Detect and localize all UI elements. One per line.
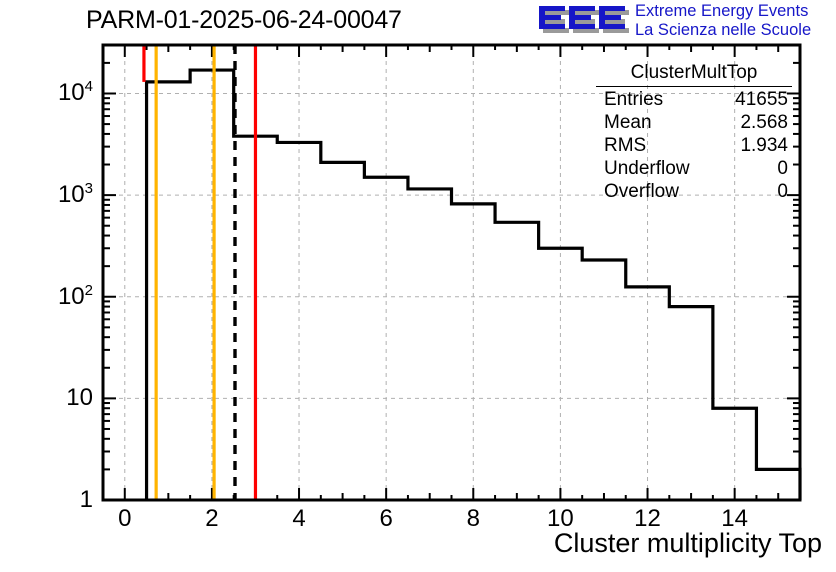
x-tick-label: 4 <box>292 505 305 533</box>
y-tick-label: 104 <box>58 79 93 107</box>
y-tick-label: 10 <box>66 384 93 412</box>
stats-row: RMS1.934 <box>596 134 792 157</box>
stats-row-value: 2.568 <box>740 111 788 134</box>
x-tick-label: 2 <box>205 505 218 533</box>
x-tick-label: 8 <box>467 505 480 533</box>
stats-row-key: RMS <box>604 134 646 157</box>
stats-box: ClusterMultTop Entries41655Mean2.568RMS1… <box>596 62 792 203</box>
stats-row: Entries41655 <box>596 88 792 111</box>
stats-row-value: 41655 <box>735 88 788 111</box>
root-canvas: PARM-01-2025-06-24-00047 <box>0 0 836 572</box>
y-tick-label: 1 <box>80 486 93 514</box>
stats-row-key: Overflow <box>604 180 679 203</box>
y-tick-label: 102 <box>58 283 93 311</box>
stats-row: Underflow0 <box>596 157 792 180</box>
stats-row-value: 1.934 <box>740 134 788 157</box>
stats-rows: Entries41655Mean2.568RMS1.934Underflow0O… <box>596 88 792 203</box>
stats-row-value: 0 <box>777 180 788 203</box>
stats-row-key: Underflow <box>604 157 690 180</box>
x-tick-label: 0 <box>118 505 131 533</box>
x-tick-label: 6 <box>379 505 392 533</box>
stats-row-key: Entries <box>604 88 663 111</box>
x-axis-title: Cluster multiplicity Top <box>554 528 822 559</box>
stats-row: Mean2.568 <box>596 111 792 134</box>
y-tick-label: 103 <box>58 181 93 209</box>
stats-title: ClusterMultTop <box>596 62 792 87</box>
stats-row-key: Mean <box>604 111 652 134</box>
stats-row-value: 0 <box>777 157 788 180</box>
stats-row: Overflow0 <box>596 180 792 203</box>
